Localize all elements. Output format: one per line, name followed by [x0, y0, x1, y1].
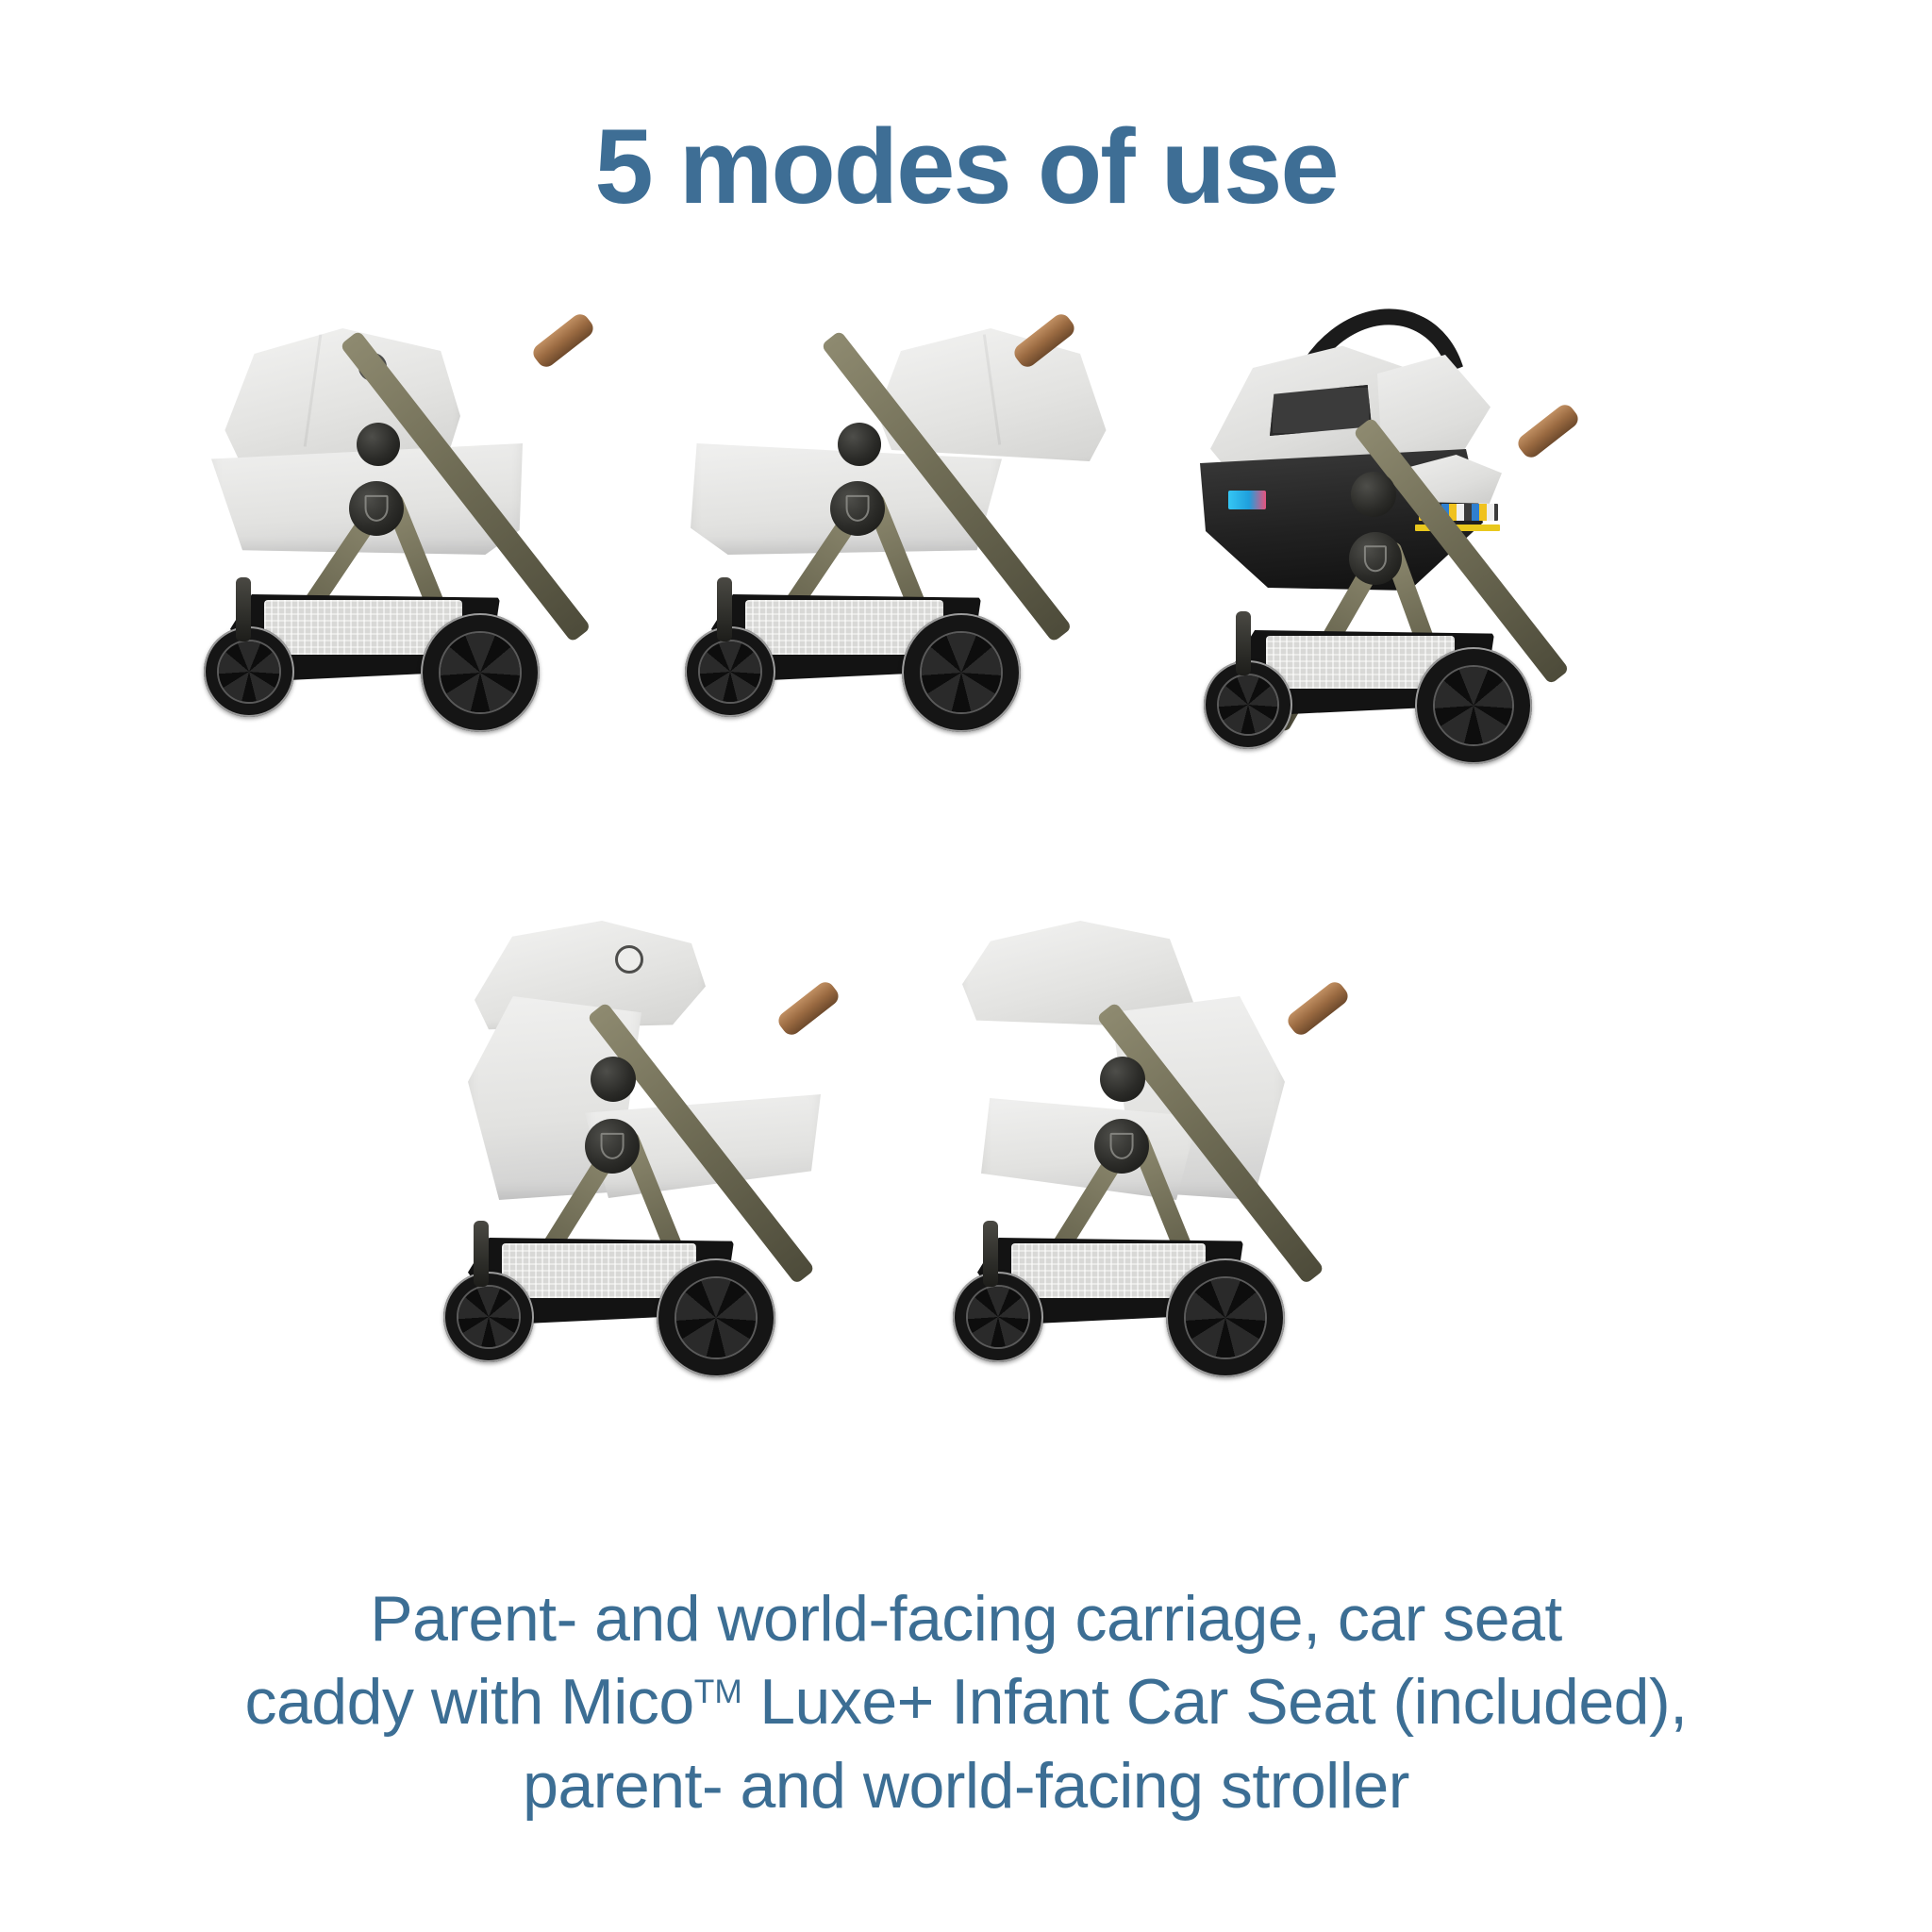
modes-row-bottom	[0, 906, 1932, 1491]
caption-line-1: Parent- and world-facing carriage, car s…	[0, 1577, 1932, 1660]
handlebar-grip	[774, 978, 841, 1039]
rear-wheel	[1166, 1258, 1285, 1377]
caption-line-2: caddy with MicoTM Luxe+ Infant Car Seat …	[0, 1660, 1932, 1743]
mode-world-facing-carriage	[679, 311, 1151, 887]
front-fork	[717, 577, 732, 641]
stroller-illustration	[953, 906, 1462, 1491]
mode-world-facing-stroller	[953, 906, 1462, 1491]
mode-car-seat-caddy	[1179, 311, 1689, 887]
car-seat-label-blue	[1228, 491, 1266, 509]
caption-block: Parent- and world-facing carriage, car s…	[0, 1577, 1932, 1827]
brand-logo-button	[615, 945, 643, 974]
trademark-symbol: TM	[694, 1674, 742, 1710]
handlebar-grip	[1514, 401, 1581, 461]
seat-attach-hub	[838, 423, 881, 466]
stroller-illustration	[443, 906, 953, 1491]
front-fork	[1236, 611, 1251, 675]
handlebar-grip	[529, 310, 596, 371]
seat-recline-hub	[591, 1057, 636, 1102]
stroller-illustration	[679, 311, 1151, 887]
mode-parent-facing-stroller	[443, 906, 953, 1491]
caption-line-2-after-tm: Luxe+ Infant Car Seat (included),	[742, 1666, 1688, 1738]
rear-wheel	[902, 613, 1021, 732]
mode-parent-facing-carriage	[198, 311, 670, 887]
frame-joint-hub	[1094, 1119, 1149, 1174]
frame-joint-hub	[830, 481, 885, 536]
stroller-illustration	[198, 311, 670, 887]
frame-joint-hub	[349, 481, 404, 536]
modes-row-top	[0, 311, 1932, 887]
caption-line-2-before-tm: caddy with Mico	[244, 1666, 693, 1738]
front-wheel	[953, 1272, 1043, 1362]
handlebar-grip	[1284, 978, 1351, 1039]
page-title: 5 modes of use	[0, 111, 1932, 223]
rear-wheel	[1415, 647, 1532, 764]
front-wheel	[443, 1272, 534, 1362]
infographic-page: 5 modes of use	[0, 0, 1932, 1932]
front-fork	[983, 1221, 998, 1287]
frame-joint-hub	[1349, 532, 1402, 585]
seat-recline-hub	[1100, 1057, 1145, 1102]
front-fork	[236, 577, 251, 641]
rear-wheel	[657, 1258, 775, 1377]
caption-line-3: parent- and world-facing stroller	[0, 1744, 1932, 1827]
front-fork	[474, 1221, 489, 1287]
car-seat-illustration	[1179, 311, 1689, 887]
seat-attach-hub	[357, 423, 400, 466]
car-seat-adapter-hub	[1351, 472, 1396, 517]
frame-joint-hub	[585, 1119, 640, 1174]
rear-wheel	[421, 613, 540, 732]
